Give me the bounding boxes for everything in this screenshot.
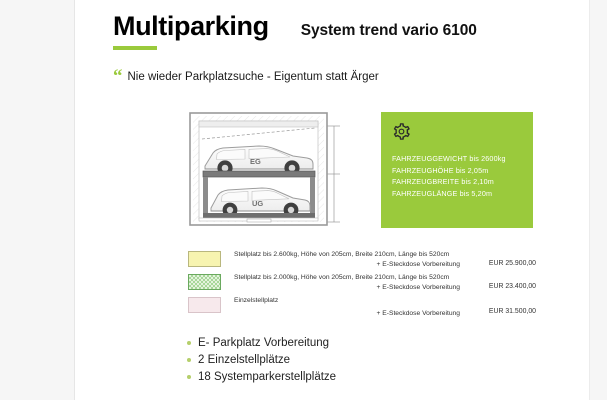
legend-text: Stellplatz bis 2.600kg, Höhe von 205cm, …: [221, 250, 464, 271]
legend-price: EUR 25.900,00: [464, 250, 536, 267]
spec-line-width: FAHRZEUGBREITE bis 2,10m: [392, 176, 533, 188]
list-item: 18 Systemparkerstellplätze: [187, 368, 527, 385]
legend-row: Stellplatz bis 2.000kg, Höhe von 205cm, …: [188, 273, 536, 296]
bullet-dot-icon: [187, 341, 191, 345]
price-legend: Stellplatz bis 2.600kg, Höhe von 205cm, …: [188, 250, 536, 319]
spec-line-length: FAHRZEUGLÄNGE bis 5,20m: [392, 188, 533, 200]
system-subtitle: System trend vario 6100: [301, 22, 477, 40]
dimension-lines: [327, 126, 340, 222]
list-item: 2 Einzelstellplätze: [187, 351, 527, 368]
cross-section-drawing: EG UG: [189, 112, 341, 228]
legend-text: Einzelstellplatz + E-Steckdose Vorbereit…: [221, 296, 464, 320]
bullet-dot-icon: [187, 358, 191, 362]
upper-level-label: EG: [250, 157, 261, 166]
title-row: Multiparking System trend vario 6100: [113, 12, 568, 42]
tagline: “ Nie wieder Parkplatzsuche - Eigentum s…: [113, 65, 568, 84]
legend-price: EUR 31.500,00: [464, 296, 536, 315]
list-item-label: 2 Einzelstellplätze: [198, 354, 290, 366]
legend-row: Einzelstellplatz + E-Steckdose Vorbereit…: [188, 296, 536, 319]
page-title: Multiparking: [113, 12, 269, 42]
legend-row: Stellplatz bis 2.600kg, Höhe von 205cm, …: [188, 250, 536, 273]
accent-underline: [113, 46, 157, 50]
legend-subnote: + E-Steckdose Vorbereitung: [234, 283, 460, 293]
legend-subnote: + E-Steckdose Vorbereitung: [234, 309, 460, 319]
swatch-green: [188, 274, 221, 290]
lower-level-label: UG: [252, 199, 263, 208]
feature-list: E- Parkplatz Vorbereitung 2 Einzelstellp…: [187, 334, 527, 385]
left-margin: [0, 0, 74, 400]
header: Multiparking System trend vario 6100 “ N…: [113, 12, 568, 84]
spec-line-height: FAHRZEUGHÖHE bis 2,05m: [392, 165, 533, 177]
list-item-label: E- Parkplatz Vorbereitung: [198, 337, 329, 349]
legend-price: EUR 23.400,00: [464, 273, 536, 290]
multiparking-illustration: EG UG: [189, 112, 341, 228]
vehicle-specs-box: FAHRZEUGGEWICHT bis 2600kg FAHRZEUGHÖHE …: [381, 112, 533, 228]
spec-list: FAHRZEUGGEWICHT bis 2600kg FAHRZEUGHÖHE …: [392, 153, 533, 200]
gear-icon: [392, 122, 411, 141]
swatch-yellow: [188, 251, 221, 267]
legend-description: Stellplatz bis 2.600kg, Höhe von 205cm, …: [234, 250, 460, 260]
quote-icon: “: [113, 67, 123, 86]
bullet-dot-icon: [187, 375, 191, 379]
legend-description: Stellplatz bis 2.000kg, Höhe von 205cm, …: [234, 273, 460, 283]
page-root: Multiparking System trend vario 6100 “ N…: [0, 0, 607, 400]
legend-subnote: + E-Steckdose Vorbereitung: [234, 260, 460, 270]
right-margin: [590, 0, 607, 400]
spec-line-weight: FAHRZEUGGEWICHT bis 2600kg: [392, 153, 533, 165]
list-item: E- Parkplatz Vorbereitung: [187, 334, 527, 351]
swatch-pink: [188, 297, 221, 313]
list-item-label: 18 Systemparkerstellplätze: [198, 371, 336, 383]
document-panel: Multiparking System trend vario 6100 “ N…: [74, 0, 590, 400]
legend-text: Stellplatz bis 2.000kg, Höhe von 205cm, …: [221, 273, 464, 294]
legend-description: Einzelstellplatz: [234, 296, 460, 306]
tagline-text: Nie wieder Parkplatzsuche - Eigentum sta…: [128, 71, 379, 83]
